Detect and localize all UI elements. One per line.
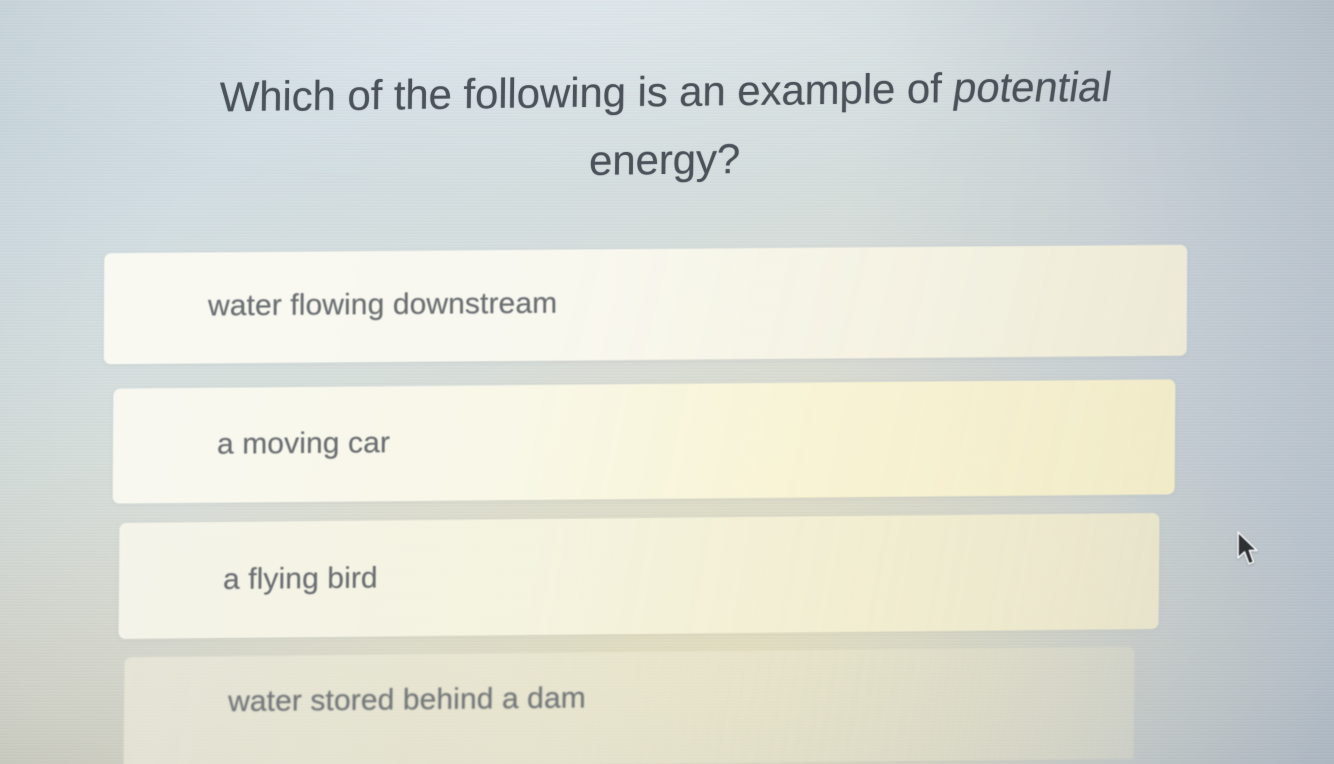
arrow-pointer-icon	[1235, 531, 1261, 569]
question-prompt: Which of the following is an example of …	[159, 52, 1171, 200]
answer-option-a-flying-bird[interactable]: a flying bird	[119, 513, 1160, 639]
answer-option-label: a moving car	[217, 426, 390, 462]
answer-option-a-moving-car[interactable]: a moving car	[113, 379, 1176, 503]
question-text-line2: energy?	[589, 135, 741, 184]
quiz-screen-photo: Which of the following is an example of …	[0, 0, 1334, 764]
question-emphasis-potential: potential	[949, 53, 1116, 122]
answer-option-water-flowing-downstream[interactable]: water flowing downstream	[104, 245, 1187, 365]
answer-option-label: water flowing downstream	[208, 286, 557, 323]
answer-option-label: a flying bird	[223, 562, 378, 597]
question-text-part1: Which of the following is an example of	[219, 64, 953, 120]
answer-option-label: water stored behind a dam	[228, 681, 586, 719]
answer-option-water-stored-behind-a-dam[interactable]: water stored behind a dam	[124, 647, 1135, 764]
